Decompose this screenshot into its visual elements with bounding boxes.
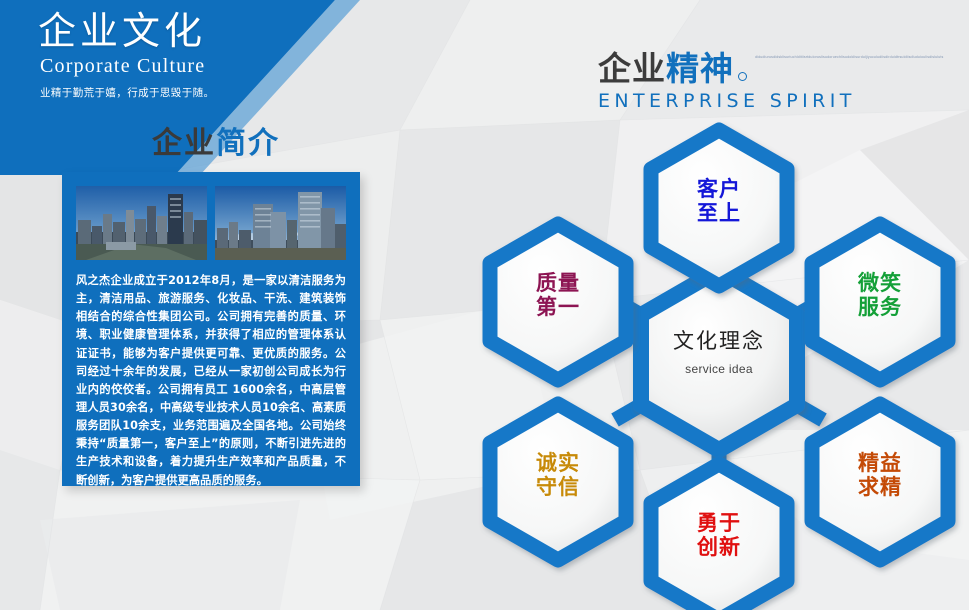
intro-heading-dark: 企业 [152, 126, 216, 161]
spirit-title-en: ENTERPRISE SPIRIT [598, 90, 856, 112]
cityscape-photo-1 [76, 186, 207, 260]
banner-title-cn: 企业文化 [38, 12, 318, 53]
hex-node-upper-right [812, 224, 948, 380]
culture-hexagon-diagram: 文化理念 service idea 客户 至上 微笑 服务 精益 求精 勇于 创… [470, 110, 969, 610]
intro-heading-blue: 简介 [216, 126, 280, 161]
enterprise-spirit-title: 企业精神 didudiurusdidsklisuriuchlditiisrtdu… [598, 52, 856, 112]
hex-node-lower-right [812, 404, 948, 560]
circle-accent-icon [738, 72, 747, 81]
hex-node-lower-left [490, 404, 626, 560]
hex-center-label: 文化理念 service idea [639, 325, 799, 376]
cityscape-photo-2 [215, 186, 346, 260]
hex-center-label-en: service idea [639, 362, 799, 376]
intro-heading: 企业简介 [152, 118, 280, 162]
photo-row [62, 172, 360, 260]
company-intro-text: 风之杰企业成立于2012年8月，是一家以清洁服务为主，清洁用品、旅游服务、化妆品… [62, 260, 360, 500]
company-intro-card: 风之杰企业成立于2012年8月，是一家以清洁服务为主，清洁用品、旅游服务、化妆品… [62, 172, 360, 486]
hex-node-bottom [651, 464, 787, 610]
decorative-filler-text: didudiurusdidsklisuriuchlditiisrtdulorus… [755, 55, 843, 61]
banner-quote: 业精于勤荒于嬉，行成于思毁于随。 [40, 85, 318, 100]
hex-center-label-cn: 文化理念 [639, 325, 799, 355]
hex-node-upper-left [490, 224, 626, 380]
banner-title-en: Corporate Culture [40, 55, 318, 78]
spirit-title-dark: 企业 [598, 49, 666, 88]
spirit-title-blue: 精神 [666, 49, 734, 88]
hex-node-top [651, 130, 787, 286]
